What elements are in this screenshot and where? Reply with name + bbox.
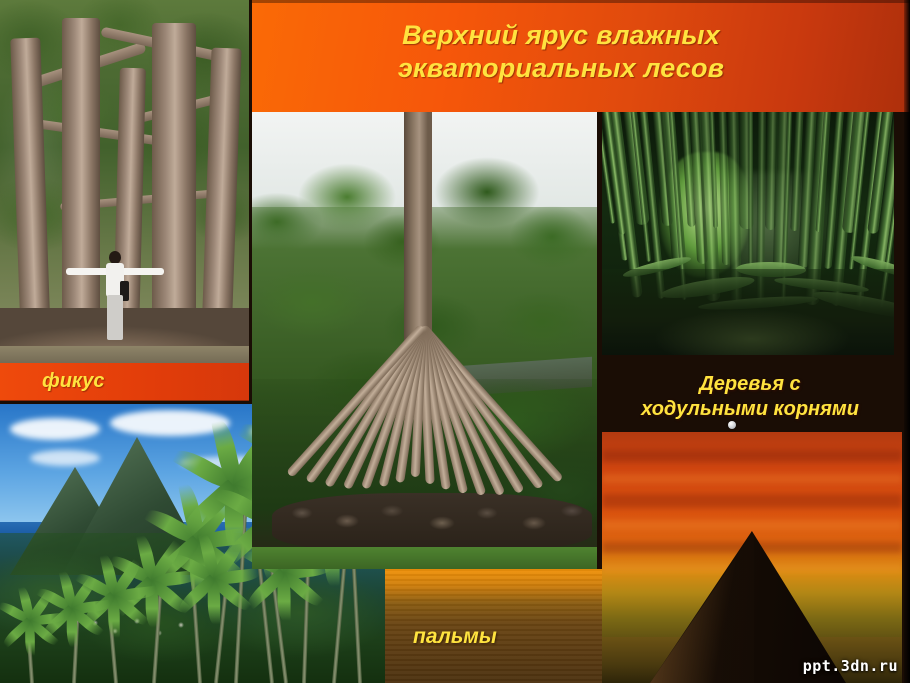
photo-banyan-root-cave — [602, 112, 894, 355]
stone-border — [272, 493, 592, 551]
person-legs — [107, 295, 123, 340]
photo-stilt-root-tree — [252, 112, 597, 569]
palms-caption-label: пальмы — [413, 625, 497, 649]
palm-tree — [196, 533, 200, 683]
slide-right-edge — [904, 0, 910, 683]
forest-floor — [602, 269, 894, 355]
ficus-caption-label: фикус — [42, 370, 105, 393]
palm-tree — [28, 613, 32, 683]
slide-title-banner: Верхний ярус влажных экваториальных лесо… — [252, 0, 910, 112]
cloud-band — [602, 520, 902, 530]
photo-sunset-pyramid — [602, 432, 902, 683]
palm-tree — [282, 565, 286, 683]
presentation-slide: пальмы Верхний ярус влажных экваториальн… — [0, 0, 910, 683]
cloud-band — [602, 474, 902, 483]
slide-title: Верхний ярус влажных экваториальных лесо… — [252, 19, 910, 85]
palm-tree — [112, 588, 116, 683]
person-figure — [98, 251, 132, 346]
banyan-root — [748, 112, 753, 266]
cloud — [10, 418, 100, 440]
palms-caption-band: пальмы — [385, 569, 602, 683]
watermark-label: ppt.3dn.ru — [803, 657, 898, 675]
slide-title-line-1: Верхний ярус влажных — [402, 20, 720, 50]
stilt-roots-caption-line-1: Деревья с — [699, 373, 800, 395]
stilt-tree-trunk — [404, 112, 432, 348]
slide-title-line-2: экваториальных лесов — [398, 53, 724, 83]
palm-tree — [212, 571, 216, 683]
photo-ficus-tree — [0, 0, 249, 368]
lawn-grass — [252, 547, 597, 569]
stilt-roots-caption-line-2: ходульными корнями — [641, 398, 859, 420]
slide-top-edge — [252, 0, 910, 3]
cloud-band — [602, 450, 902, 462]
palm-tree — [70, 601, 74, 683]
mouse-pointer-dot — [728, 421, 736, 429]
ficus-caption-band: фикус — [0, 363, 249, 401]
pyramid-lit-face — [650, 531, 754, 683]
cloud — [30, 450, 100, 466]
cloud-band — [602, 494, 902, 508]
stilt-roots-caption: Деревья с ходульными корнями — [600, 364, 900, 428]
